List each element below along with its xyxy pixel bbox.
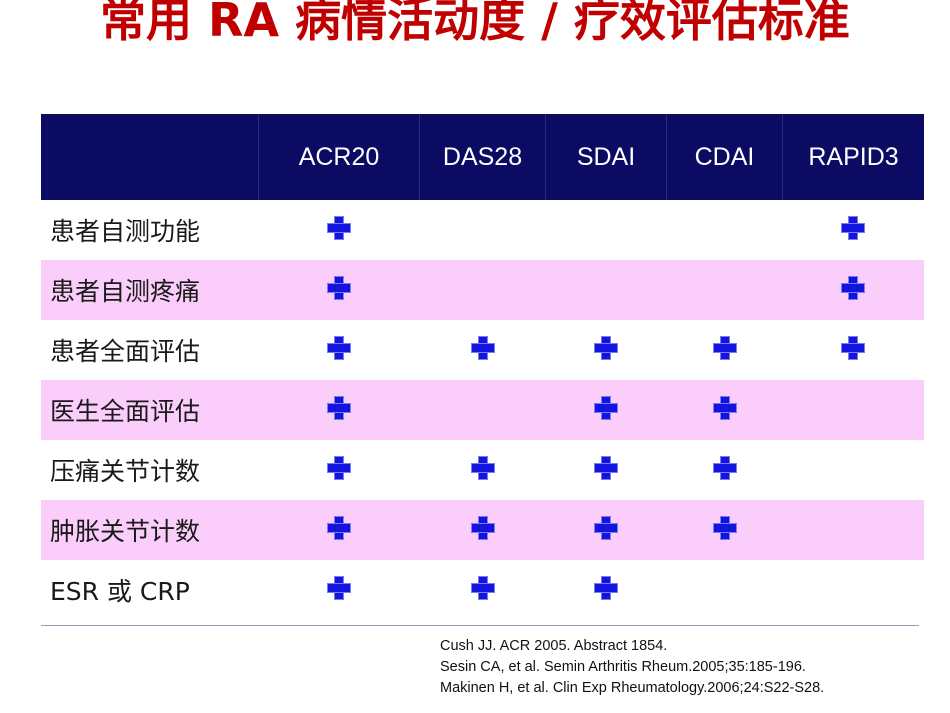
row-label-esr-crp: ESR 或 CRP <box>41 560 259 620</box>
plus-cross-icon <box>472 577 494 599</box>
plus-cross-icon <box>842 277 864 299</box>
plus-cross-icon <box>595 577 617 599</box>
cell-physician-global-cdai <box>667 380 783 440</box>
plus-cross-icon <box>595 337 617 359</box>
table-row: ESR 或 CRP <box>41 560 924 620</box>
cell-esr-crp-das28 <box>420 560 546 620</box>
cell-physician-global-das28 <box>420 380 546 440</box>
row-label-swollen-joint-count: 肿胀关节计数 <box>41 500 259 560</box>
table-row: 患者自测功能 <box>41 200 924 260</box>
cell-patient-function-das28 <box>420 200 546 260</box>
table-row: 肿胀关节计数 <box>41 500 924 560</box>
plus-cross-icon <box>328 277 350 299</box>
cell-swollen-joint-count-sdai <box>546 500 667 560</box>
plus-cross-icon <box>328 217 350 239</box>
cell-swollen-joint-count-das28 <box>420 500 546 560</box>
column-header-rapid3: RAPID3 <box>783 114 925 200</box>
footer-divider <box>41 625 919 626</box>
plus-cross-icon <box>842 217 864 239</box>
cell-tender-joint-count-acr20 <box>259 440 420 500</box>
row-label-patient-function: 患者自测功能 <box>41 200 259 260</box>
citation-item: Makinen H, et al. Clin Exp Rheumatology.… <box>440 678 824 699</box>
plus-cross-icon <box>595 397 617 419</box>
row-label-patient-global: 患者全面评估 <box>41 320 259 380</box>
cell-tender-joint-count-rapid3 <box>783 440 925 500</box>
cell-patient-pain-acr20 <box>259 260 420 320</box>
table-header: ACR20 DAS28 SDAI CDAI RAPID3 <box>41 114 924 200</box>
cell-patient-global-cdai <box>667 320 783 380</box>
plus-cross-icon <box>328 337 350 359</box>
plus-cross-icon <box>472 337 494 359</box>
cell-esr-crp-acr20 <box>259 560 420 620</box>
table-row: 医生全面评估 <box>41 380 924 440</box>
cell-patient-function-rapid3 <box>783 200 925 260</box>
table-row: 患者全面评估 <box>41 320 924 380</box>
cell-tender-joint-count-cdai <box>667 440 783 500</box>
plus-cross-icon <box>472 517 494 539</box>
row-label-patient-pain: 患者自测疼痛 <box>41 260 259 320</box>
cell-patient-global-rapid3 <box>783 320 925 380</box>
plus-cross-icon <box>328 577 350 599</box>
cell-patient-function-cdai <box>667 200 783 260</box>
citation-item: Cush JJ. ACR 2005. Abstract 1854. <box>440 636 824 657</box>
cell-physician-global-rapid3 <box>783 380 925 440</box>
plus-cross-icon <box>328 517 350 539</box>
plus-cross-icon <box>328 397 350 419</box>
table-row: 患者自测疼痛 <box>41 260 924 320</box>
plus-cross-icon <box>472 457 494 479</box>
table-header-row: ACR20 DAS28 SDAI CDAI RAPID3 <box>41 114 924 200</box>
cell-patient-pain-das28 <box>420 260 546 320</box>
plus-cross-icon <box>714 517 736 539</box>
table-row: 压痛关节计数 <box>41 440 924 500</box>
cell-patient-function-sdai <box>546 200 667 260</box>
row-label-tender-joint-count: 压痛关节计数 <box>41 440 259 500</box>
column-header-sdai: SDAI <box>546 114 667 200</box>
column-header-das28: DAS28 <box>420 114 546 200</box>
cell-esr-crp-cdai <box>667 560 783 620</box>
row-label-physician-global: 医生全面评估 <box>41 380 259 440</box>
plus-cross-icon <box>328 457 350 479</box>
cell-physician-global-acr20 <box>259 380 420 440</box>
cell-physician-global-sdai <box>546 380 667 440</box>
cell-patient-global-das28 <box>420 320 546 380</box>
cell-tender-joint-count-das28 <box>420 440 546 500</box>
cell-swollen-joint-count-rapid3 <box>783 500 925 560</box>
cell-swollen-joint-count-cdai <box>667 500 783 560</box>
citation-list: Cush JJ. ACR 2005. Abstract 1854. Sesin … <box>440 636 824 699</box>
cell-patient-global-sdai <box>546 320 667 380</box>
citation-item: Sesin CA, et al. Semin Arthritis Rheum.2… <box>440 657 824 678</box>
plus-cross-icon <box>714 457 736 479</box>
plus-cross-icon <box>714 337 736 359</box>
plus-cross-icon <box>595 517 617 539</box>
cell-patient-pain-rapid3 <box>783 260 925 320</box>
cell-patient-pain-sdai <box>546 260 667 320</box>
plus-cross-icon <box>714 397 736 419</box>
page-title: 常用 RA 病情活动度 / 疗效评估标准 <box>0 0 950 46</box>
cell-esr-crp-rapid3 <box>783 560 925 620</box>
cell-patient-pain-cdai <box>667 260 783 320</box>
column-header-cdai: CDAI <box>667 114 783 200</box>
assessment-criteria-table: ACR20 DAS28 SDAI CDAI RAPID3 患者自测功能 患者自测… <box>41 114 924 620</box>
cell-tender-joint-count-sdai <box>546 440 667 500</box>
cell-esr-crp-sdai <box>546 560 667 620</box>
table-body: 患者自测功能 患者自测疼痛 患者全面评估 医生全面评估 <box>41 200 924 620</box>
cell-patient-global-acr20 <box>259 320 420 380</box>
cell-patient-function-acr20 <box>259 200 420 260</box>
column-header-acr20: ACR20 <box>259 114 420 200</box>
table-header-corner <box>41 114 259 200</box>
plus-cross-icon <box>842 337 864 359</box>
cell-swollen-joint-count-acr20 <box>259 500 420 560</box>
plus-cross-icon <box>595 457 617 479</box>
